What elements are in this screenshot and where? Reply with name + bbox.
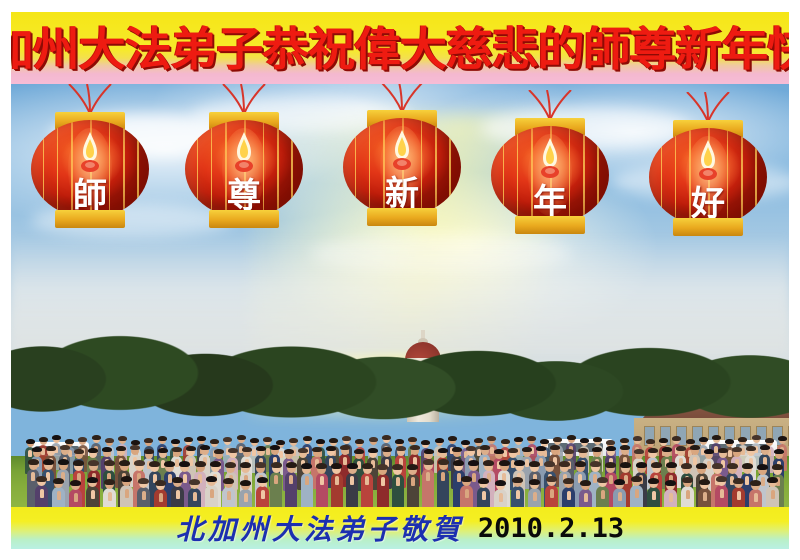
crowd-person-hair xyxy=(681,463,692,469)
crowd-person-hair xyxy=(527,436,536,441)
crowd-person-hands xyxy=(396,477,400,486)
crowd-person-hair xyxy=(778,436,787,441)
crowd-person-hands xyxy=(567,491,571,500)
crowd-person-hair xyxy=(119,460,130,466)
lantern-base xyxy=(55,210,125,228)
crowd-person-hair xyxy=(544,461,555,467)
crowd-person-hands xyxy=(426,472,430,481)
crowd-person-hair xyxy=(563,478,574,484)
crowd-person-hair xyxy=(672,436,681,441)
crowd-person-hands xyxy=(584,493,588,502)
crowd-person-hair xyxy=(746,446,756,451)
crowd-person-hair xyxy=(620,462,631,468)
crowd-person-hands xyxy=(635,489,639,498)
crowd-person-hair xyxy=(396,446,406,451)
crowd-person-hair xyxy=(39,437,48,442)
crowd-person-hair xyxy=(757,464,768,470)
crowd-person-hair xyxy=(70,480,81,486)
crowd-person-hair xyxy=(659,438,668,443)
crowd-person-hair xyxy=(104,479,115,485)
lantern-string-icon xyxy=(367,84,437,112)
crowd-person-hair xyxy=(88,460,99,466)
crowd-person-hair xyxy=(206,476,217,482)
crowd-person-hair xyxy=(648,448,658,453)
crowd-person-hands xyxy=(176,490,180,499)
practitioner-crowd xyxy=(11,436,789,507)
top-greeting-band: 北加州大法弟子恭祝偉大慈悲的師尊新年快樂 xyxy=(11,12,789,84)
crowd-person-hands xyxy=(482,491,486,500)
crowd-person-hair xyxy=(648,478,659,484)
crowd-person-hands xyxy=(183,474,187,483)
crowd-person-hands xyxy=(252,449,256,456)
crowd-person-hair xyxy=(742,463,753,469)
crowd-person-hair xyxy=(155,480,166,486)
crowd-person-hair xyxy=(149,461,160,467)
crowd-person-hair xyxy=(606,446,616,451)
lantern-base xyxy=(673,218,743,236)
crowd-person-hair xyxy=(392,464,403,470)
crowd-person-hair xyxy=(620,445,630,450)
lantern-string-icon xyxy=(209,84,279,114)
crowd-person-hair xyxy=(725,439,734,444)
crowd-person-hair xyxy=(250,438,259,443)
crowd-person-hair xyxy=(712,463,723,469)
crowd-person-hands xyxy=(381,477,385,486)
crowd-person-hair xyxy=(605,462,616,468)
crowd-person-hands xyxy=(365,476,369,485)
crowd-person-hands xyxy=(771,490,775,499)
crowd-person-hands xyxy=(411,477,415,486)
greeting-card: 北加州大法弟子恭祝偉大慈悲的師尊新年快樂 xyxy=(0,0,800,560)
crowd-person-hair xyxy=(210,439,219,444)
crowd-person-hair xyxy=(772,464,783,470)
crowd-person-hair xyxy=(682,477,693,483)
crowd-person-hair xyxy=(223,437,232,442)
crowd-person-hair xyxy=(172,447,182,452)
crowd-person-hair xyxy=(52,435,61,440)
crowd-person-hair xyxy=(228,448,238,453)
lantern-base xyxy=(367,208,437,226)
crowd-person-hair xyxy=(712,435,721,440)
crowd-person-hair xyxy=(92,435,101,440)
crowd-person-hands xyxy=(305,476,309,485)
crowd-person-hair xyxy=(263,437,272,442)
crowd-person-hair xyxy=(164,461,175,467)
crowd-person-hair xyxy=(438,448,448,453)
crowd-person-hands xyxy=(142,491,146,500)
crowd-person-hair xyxy=(634,449,644,454)
crowd-person-hair xyxy=(651,462,662,468)
crowd-person-hair xyxy=(270,445,280,450)
lantern-xin: 新 xyxy=(341,104,463,234)
crowd-person-hands xyxy=(125,489,129,498)
crowd-person-hair xyxy=(32,447,42,452)
crowd-person-hair xyxy=(58,459,69,465)
crowd-person-hands xyxy=(335,476,339,485)
crowd-person-hair xyxy=(553,437,562,442)
crowd-person-hands xyxy=(289,475,293,484)
crowd-person-hair xyxy=(347,463,358,469)
crowd-person-hair xyxy=(316,439,325,444)
crowd-person-hands xyxy=(703,492,707,501)
crowd-person-hair xyxy=(237,435,246,440)
crowd-person-hair xyxy=(73,460,84,466)
crowd-person-hair xyxy=(686,439,695,444)
crowd-person-hair xyxy=(144,438,153,443)
crowd-person-hair xyxy=(752,435,761,440)
crowd-person-hair xyxy=(424,449,434,454)
crowd-person-hair xyxy=(240,480,251,486)
crowd-person-hands xyxy=(91,490,95,499)
crowd-person-hair xyxy=(468,460,479,466)
crowd-person-hair xyxy=(666,462,677,468)
crowd-person-hair xyxy=(171,439,180,444)
crowd-person-hair xyxy=(271,462,282,468)
crowd-person-hair xyxy=(362,463,373,469)
crowd-person-hair xyxy=(195,461,206,467)
crowd-person-hands xyxy=(465,489,469,498)
crowd-person-hair xyxy=(326,446,336,451)
crowd-person-hands xyxy=(652,491,656,500)
crowd-person-hair xyxy=(665,480,676,486)
crowd-person-hair xyxy=(197,436,206,441)
crowd-person-hair xyxy=(727,463,738,469)
crowd-person-hair xyxy=(60,445,70,450)
crowd-person-hair xyxy=(284,449,294,454)
crowd-person-hair xyxy=(276,440,285,445)
crowd-person-hands xyxy=(193,492,197,501)
crowd-person-hair xyxy=(478,478,489,484)
crowd-person-hair xyxy=(690,445,700,450)
crowd-person-hair xyxy=(704,449,714,454)
crowd-person-hands xyxy=(686,490,690,499)
crowd-person-hair xyxy=(303,436,312,441)
crowd-person-hair xyxy=(78,437,87,442)
lantern-hao: 好 xyxy=(647,114,769,244)
crowd-person-hair xyxy=(614,479,625,485)
crowd-person-hair xyxy=(760,445,770,450)
crowd-person-hair xyxy=(257,477,268,483)
crowd-person-hair xyxy=(512,477,523,483)
crowd-person-hair xyxy=(633,436,642,441)
crowd-person-hair xyxy=(774,449,784,454)
crowd-person-hair xyxy=(452,447,462,452)
lantern-shi: 師 xyxy=(29,106,151,236)
crowd-person-hair xyxy=(28,459,39,465)
crowd-person-hair xyxy=(580,480,591,486)
crowd-person-hands xyxy=(754,493,758,502)
crowd-person-hair xyxy=(395,439,404,444)
crowd-person-hair xyxy=(312,447,322,452)
crowd-person-hair xyxy=(382,435,391,440)
crowd-person-hair xyxy=(646,439,655,444)
crowd-person-hands xyxy=(74,493,78,502)
crowd-person-hair xyxy=(301,463,312,469)
crowd-person-hair xyxy=(43,459,54,465)
crowd-person-hands xyxy=(350,476,354,485)
crowd-person-hands xyxy=(707,461,711,469)
crowd-person-hair xyxy=(487,436,496,441)
crowd-person-hair xyxy=(461,440,470,445)
crowd-person-hair xyxy=(435,438,444,443)
crowd-person-hair xyxy=(564,449,574,454)
crowd-person-hair xyxy=(242,447,252,452)
crowd-person-hair xyxy=(699,437,708,442)
crowd-person-hands xyxy=(210,489,214,498)
crowd-person-hair xyxy=(158,448,168,453)
crowd-person-hands xyxy=(737,491,741,500)
crowd-person-hair xyxy=(567,435,576,440)
crowd-person-hair xyxy=(179,461,190,467)
crowd-person-hair xyxy=(732,447,742,452)
crowd-person-hair xyxy=(592,447,602,452)
crowd-person-hair xyxy=(421,440,430,445)
crowd-person-hair xyxy=(368,448,378,453)
crowd-person-hair xyxy=(738,437,747,442)
crowd-person-hands xyxy=(720,489,724,498)
crowd-person-hair xyxy=(186,446,196,451)
crowd-person-hands xyxy=(601,490,605,499)
crowd-person-hair xyxy=(225,462,236,468)
date-text: 2010.2.13 xyxy=(478,513,624,544)
crowd-person-hair xyxy=(448,436,457,441)
crowd-person-hands xyxy=(669,493,673,502)
crowd-person-hands xyxy=(320,476,324,485)
crowd-person-hair xyxy=(508,448,518,453)
crowd-person-hair xyxy=(340,445,350,450)
crowd-person-hair xyxy=(88,448,98,453)
lantern-base xyxy=(209,210,279,228)
crowd-person-hair xyxy=(158,436,167,441)
crowd-person-hair xyxy=(255,462,266,468)
crowd-person-hair xyxy=(130,445,140,450)
crowd-person-hair xyxy=(102,447,112,452)
crowd-person-hair xyxy=(767,477,778,483)
lantern-base xyxy=(515,216,585,234)
crowd-person-hair xyxy=(377,464,388,470)
crowd-person-hair xyxy=(699,479,710,485)
crowd-person-hair xyxy=(408,437,417,442)
crowd-person-hands xyxy=(550,489,554,498)
crowd-person-hair xyxy=(214,449,224,454)
crowd-person-hair xyxy=(559,461,570,467)
crowd-person-hair xyxy=(256,446,266,451)
crowd-person-hair xyxy=(382,447,392,452)
crowd-person-hair xyxy=(121,476,132,482)
crowd-person-hair xyxy=(438,459,449,465)
crowd-person-hands xyxy=(533,492,537,501)
crowd-person-hair xyxy=(750,480,761,486)
crowd-person-hair xyxy=(210,461,221,467)
crowd-person-hair xyxy=(104,460,115,466)
crowd-person-hair xyxy=(593,437,602,442)
crowd-person-hands xyxy=(499,493,503,502)
crowd-person-hair xyxy=(529,461,540,467)
crowd-person-hair xyxy=(546,476,557,482)
crowd-person-hands xyxy=(40,489,44,498)
crowd-person-hair xyxy=(461,476,472,482)
crowd-person-hair xyxy=(134,460,145,466)
crowd-person-hair xyxy=(529,479,540,485)
photo-area: 恭祝師尊新年好 xyxy=(11,84,789,507)
crowd-person-hair xyxy=(172,477,183,483)
crowd-person-hair xyxy=(474,438,483,443)
crowd-person-hands xyxy=(343,457,347,465)
crowd-person-hair xyxy=(223,478,234,484)
crowd-person-hair xyxy=(718,448,728,453)
crowd-person-hands xyxy=(244,493,248,502)
crowd-person-hands xyxy=(472,473,476,482)
crowd-person-hair xyxy=(514,460,525,466)
crowd-person-hair xyxy=(144,449,154,454)
signature-text: 北加州大法弟子敬賀 xyxy=(176,508,464,548)
crowd-person-hair xyxy=(200,445,210,450)
crowd-person-hands xyxy=(108,492,112,501)
lantern-nian: 年 xyxy=(489,112,611,242)
crowd-person-hair xyxy=(636,462,647,468)
crowd-person-hair xyxy=(540,439,549,444)
crowd-person-hair xyxy=(606,440,615,445)
crowd-person-hair xyxy=(575,461,586,467)
crowd-person-hair xyxy=(240,462,251,468)
crowd-person-hair xyxy=(369,437,378,442)
crowd-person-hands xyxy=(227,491,231,500)
crowd-person-hands xyxy=(761,477,765,486)
crowd-person-hair xyxy=(514,437,523,442)
crowd-person-hair xyxy=(329,438,338,443)
crowd-person-hair xyxy=(578,448,588,453)
crowd-person-hair xyxy=(355,439,364,444)
crowd-person-hair xyxy=(453,460,464,466)
crowd-person-hair xyxy=(289,438,298,443)
crowd-person-hair xyxy=(495,480,506,486)
crowd-person-hair xyxy=(342,436,351,441)
crowd-person-hands xyxy=(261,490,265,499)
crowd-person-hands xyxy=(745,476,749,485)
crowd-person-hands xyxy=(57,491,61,500)
crowd-person-hair xyxy=(189,479,200,485)
crowd-person-hair xyxy=(550,445,560,450)
crowd-person-hair xyxy=(580,438,589,443)
crowd-person-hair xyxy=(522,447,532,452)
crowd-person-hair xyxy=(631,476,642,482)
crowd-person-hair xyxy=(410,445,420,450)
crowd-person-hair xyxy=(590,461,601,467)
crowd-person-hair xyxy=(423,459,434,465)
crowd-person-hair xyxy=(466,446,476,451)
crowd-person-hair xyxy=(131,440,140,445)
crowd-person-hair xyxy=(138,478,149,484)
crowd-person-hair xyxy=(87,477,98,483)
crowd-person-hair xyxy=(676,446,686,451)
crowd-person-hair xyxy=(286,462,297,468)
crowd-person-hands xyxy=(618,492,622,501)
lantern-string-icon xyxy=(55,84,125,114)
crowd-person-hair xyxy=(331,463,342,469)
crowd-person-hair xyxy=(36,476,47,482)
page-title: 北加州大法弟子恭祝偉大慈悲的師尊新年快樂 xyxy=(11,12,789,82)
crowd-person-hair xyxy=(733,478,744,484)
crowd-person-hair xyxy=(26,439,35,444)
crowd-person-hair xyxy=(620,438,629,443)
crowd-person-hands xyxy=(31,472,35,481)
crowd-person-hair xyxy=(118,436,127,441)
crowd-person-hair xyxy=(501,439,510,444)
crowd-person-hair xyxy=(354,449,364,454)
crowd-person-hands xyxy=(159,493,163,502)
lantern-string-icon xyxy=(673,92,743,122)
lantern-string-icon xyxy=(515,90,585,120)
crowd-person-hair xyxy=(184,437,193,442)
crowd-person-hair xyxy=(716,476,727,482)
crowd-person-hair xyxy=(536,446,546,451)
crowd-person-hair xyxy=(499,460,510,466)
bottom-signature-band: 北加州大法弟子敬賀 2010.2.13 xyxy=(11,507,789,549)
crowd-person-hair xyxy=(494,449,504,454)
crowd-person-hair xyxy=(65,439,74,444)
crowd-person-hands xyxy=(274,475,278,484)
crowd-person-hair xyxy=(480,445,490,450)
crowd-person-hair xyxy=(46,446,56,451)
crowd-person-hair xyxy=(483,460,494,466)
lantern-zun: 尊 xyxy=(183,106,305,236)
crowd-person-hair xyxy=(53,478,64,484)
crowd-person-hands xyxy=(516,490,520,499)
crowd-person-hair xyxy=(597,477,608,483)
crowd-person-hair xyxy=(765,438,774,443)
crowd-person-hair xyxy=(105,438,114,443)
signature-row: 北加州大法弟子敬賀 2010.2.13 xyxy=(11,507,789,549)
crowd-person-hair xyxy=(662,447,672,452)
crowd-person-hair xyxy=(696,463,707,469)
crowd-person-hair xyxy=(116,446,126,451)
crowd-person-hair xyxy=(298,448,308,453)
crowd-person-hands xyxy=(609,475,613,484)
crowd-person-hair xyxy=(316,463,327,469)
crowd-person-hair xyxy=(74,449,84,454)
crowd-person-hair xyxy=(407,464,418,470)
crowd-person-hands xyxy=(441,472,445,481)
